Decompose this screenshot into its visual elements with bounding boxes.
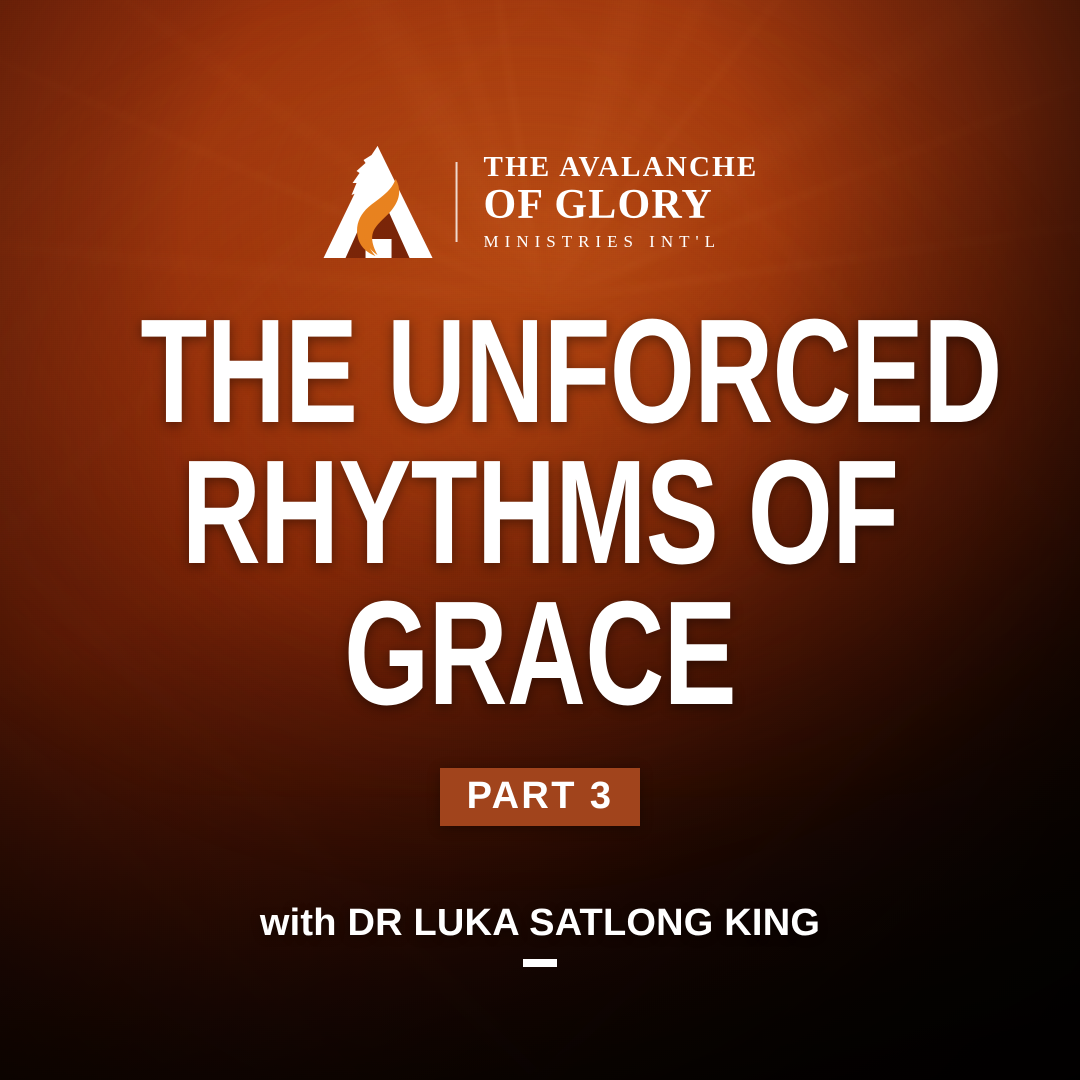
sermon-promo-poster: THE AVALANCHE OF GLORY MINISTRIES INT'L … <box>0 0 1080 1080</box>
title-line-1: THE UNFORCED <box>140 305 939 438</box>
speaker-credit: with DR LUKA SATLONG KING <box>0 902 1080 945</box>
logo-divider-rule <box>456 162 458 242</box>
logo-line-the-avalanche: THE AVALANCHE <box>484 153 759 182</box>
logo-line-ministries-intl: MINISTRIES INT'L <box>484 233 759 250</box>
part-badge: PART 3 <box>440 768 641 826</box>
speaker-accent-dash <box>523 959 557 967</box>
logo-line-of-glory: OF GLORY <box>484 184 759 226</box>
poster-content: THE AVALANCHE OF GLORY MINISTRIES INT'L … <box>0 0 1080 1080</box>
speaker-container: with DR LUKA SATLONG KING <box>0 902 1080 967</box>
sermon-title: THE UNFORCED RHYTHMS OF GRACE <box>0 305 1080 721</box>
avalanche-mountain-flame-icon <box>322 143 434 260</box>
speaker-name: DR LUKA SATLONG KING <box>347 902 820 944</box>
title-line-3: GRACE <box>140 587 939 720</box>
ministry-logo-lockup: THE AVALANCHE OF GLORY MINISTRIES INT'L <box>322 143 759 260</box>
ministry-logo-wordmark: THE AVALANCHE OF GLORY MINISTRIES INT'L <box>484 153 759 250</box>
part-badge-container: PART 3 <box>0 768 1080 826</box>
title-line-2: RHYTHMS OF <box>140 446 939 579</box>
speaker-prefix: with <box>260 902 348 944</box>
